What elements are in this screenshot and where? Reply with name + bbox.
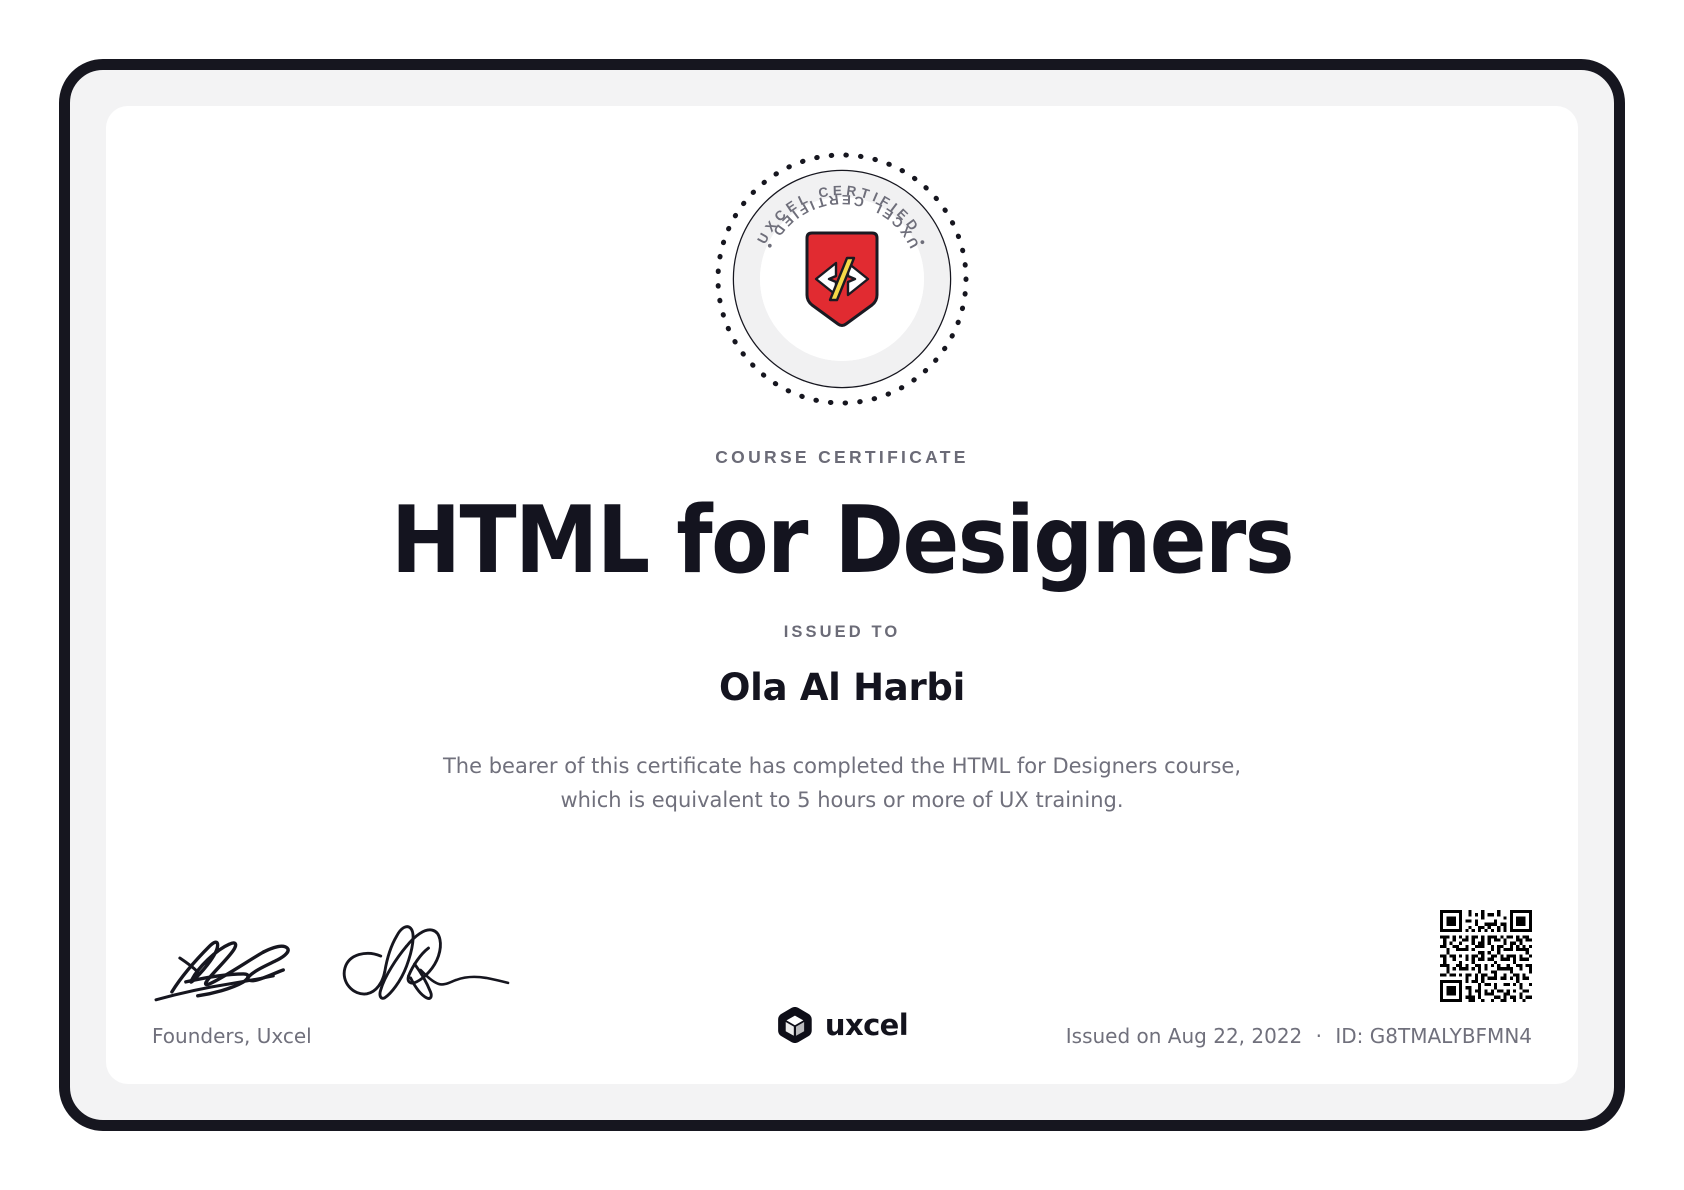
description-line-2: which is equivalent to 5 hours or more o…	[443, 783, 1241, 817]
course-title: HTML for Designers	[391, 492, 1293, 589]
issued-date: Issued on Aug 22, 2022	[1066, 1024, 1303, 1048]
signature-caption: Founders, Uxcel	[152, 1024, 512, 1048]
recipient-name: Ola Al Harbi	[719, 666, 965, 709]
certificate-meta: Issued on Aug 22, 2022 · ID: G8TMALYBFMN…	[1066, 910, 1532, 1048]
uxcel-cube-logo-icon	[776, 1006, 814, 1044]
certificate-description: The bearer of this certificate has compl…	[443, 749, 1241, 817]
uxcel-certified-seal: UXCEL CERTIFIED • UXCEL CERTIFIED •	[711, 148, 973, 410]
signature-block: Founders, Uxcel	[152, 920, 512, 1048]
certificate-card: UXCEL CERTIFIED • UXCEL CERTIFIED •	[106, 106, 1578, 1084]
certificate-footer: Founders, Uxcel uxcel	[152, 858, 1532, 1048]
qr-code-wrap[interactable]	[1066, 910, 1532, 1002]
meta-separator: ·	[1309, 1024, 1329, 1048]
uxcel-wordmark: uxcel	[825, 1011, 908, 1040]
description-line-1: The bearer of this certificate has compl…	[443, 749, 1241, 783]
signature-images	[152, 920, 512, 1006]
founder-signature-2-icon	[335, 920, 512, 1006]
certificate-type-label: COURSE CERTIFICATE	[715, 447, 969, 468]
founder-signature-1-icon	[152, 920, 333, 1006]
certificate-frame: UXCEL CERTIFIED • UXCEL CERTIFIED •	[59, 59, 1625, 1131]
certificate-meta-line: Issued on Aug 22, 2022 · ID: G8TMALYBFMN…	[1066, 1024, 1532, 1048]
certificate-page: UXCEL CERTIFIED • UXCEL CERTIFIED •	[0, 0, 1684, 1190]
issued-to-label: ISSUED TO	[784, 623, 901, 642]
qr-code-icon[interactable]	[1440, 910, 1532, 1002]
uxcel-brand: uxcel	[776, 1006, 908, 1044]
certificate-id: ID: G8TMALYBFMN4	[1335, 1024, 1532, 1048]
